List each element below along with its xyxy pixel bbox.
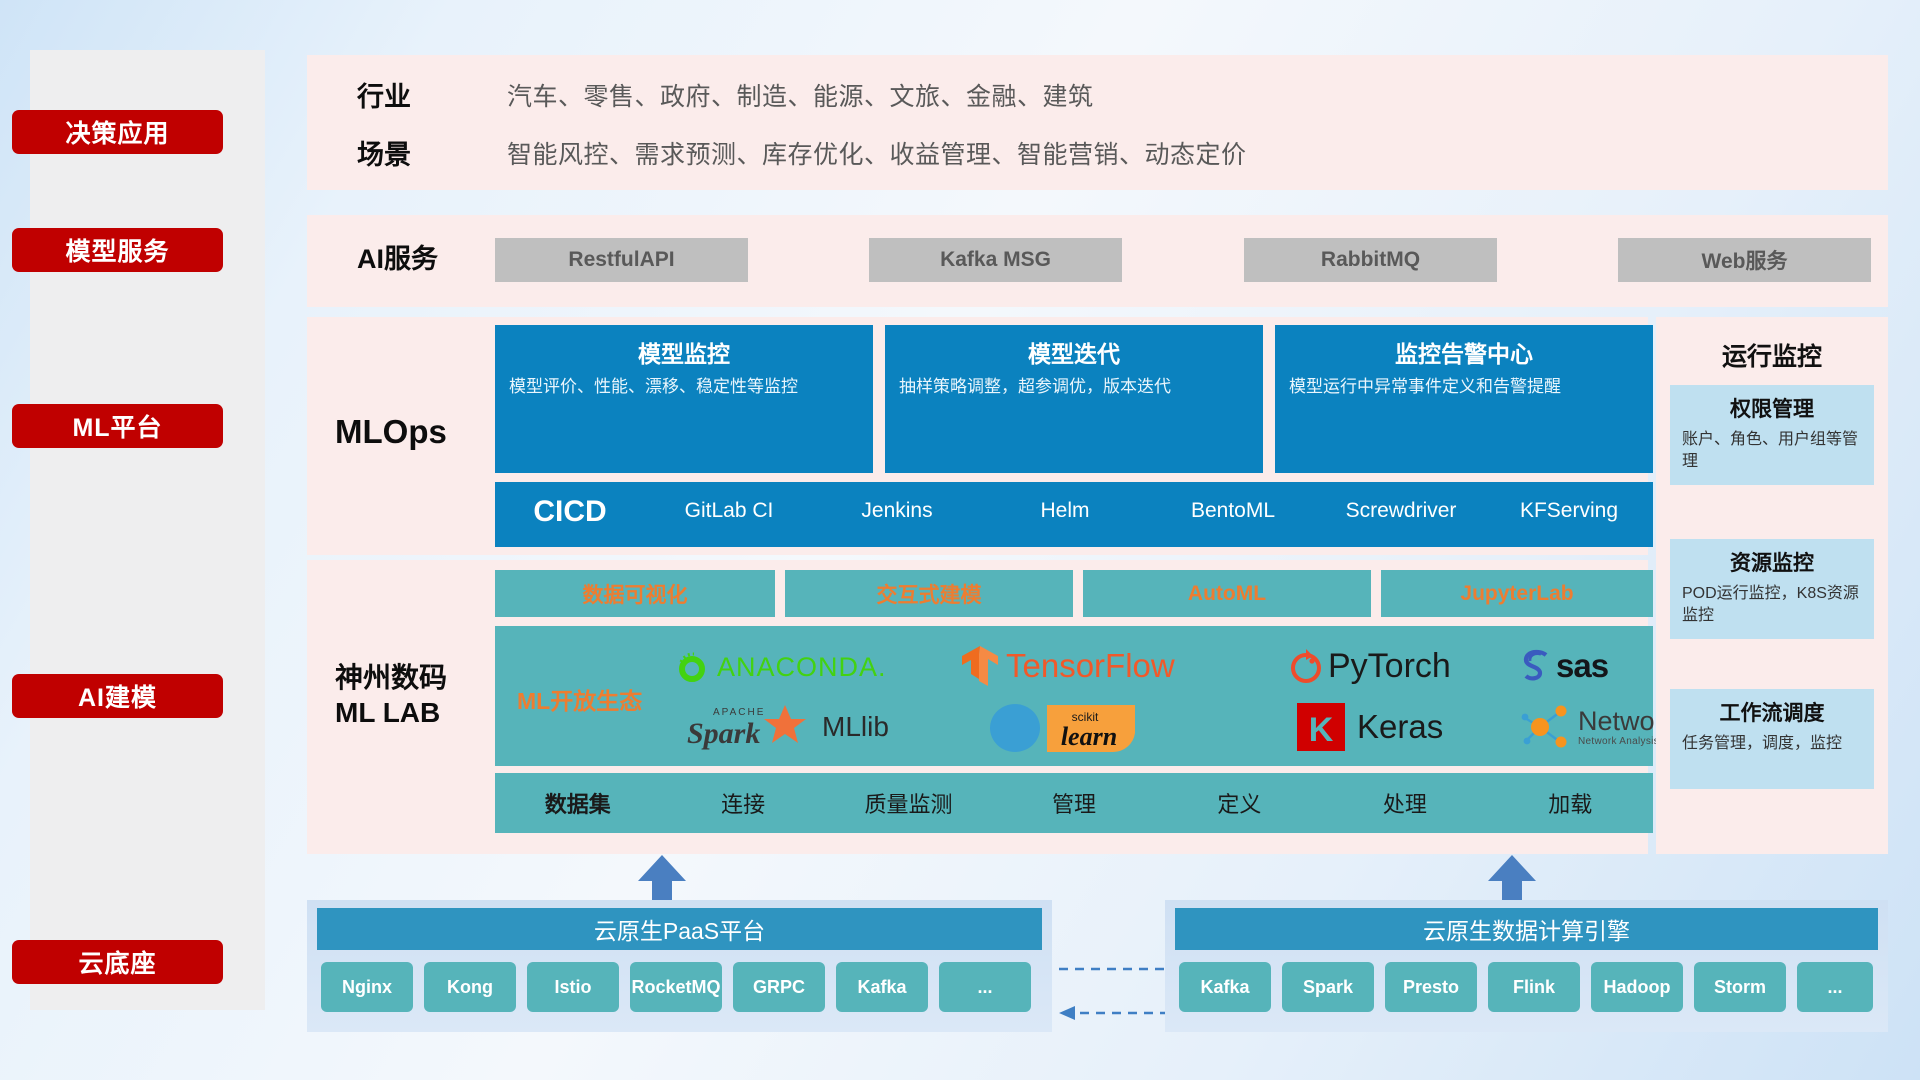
dataset-item-load[interactable]: 加载: [1488, 787, 1653, 819]
industry-key: 行业: [357, 75, 411, 114]
paas-block: 云原生PaaS平台 Nginx Kong Istio RocketMQ GRPC…: [307, 900, 1052, 1032]
mlops-label: MLOps: [335, 413, 447, 451]
cicd-item-jenkins[interactable]: Jenkins: [813, 482, 981, 524]
svg-text:K: K: [1309, 711, 1334, 749]
paas-chip-istio[interactable]: Istio: [527, 962, 619, 1012]
engine-chip-storm[interactable]: Storm: [1694, 962, 1786, 1012]
tab-automl[interactable]: AutoML: [1083, 570, 1371, 617]
card-desc: 账户、角色、用户组等管理: [1682, 429, 1862, 474]
engine-chip-hadoop[interactable]: Hadoop: [1591, 962, 1683, 1012]
dataset-item-connect[interactable]: 连接: [660, 787, 825, 819]
monitor-card-permission[interactable]: 权限管理 账户、角色、用户组等管理: [1670, 385, 1874, 485]
paas-chip-kafka[interactable]: Kafka: [836, 962, 928, 1012]
mlops-card-model-monitoring[interactable]: 模型监控 模型评价、性能、漂移、稳定性等监控: [495, 325, 873, 473]
card-desc: 抽样策略调整，超参调优，版本迭代: [899, 376, 1249, 399]
paas-chip-kong[interactable]: Kong: [424, 962, 516, 1012]
paas-chip-rocketmq[interactable]: RocketMQ: [630, 962, 722, 1012]
arrow-up-paas-icon: [630, 855, 700, 905]
cicd-item-helm[interactable]: Helm: [981, 482, 1149, 524]
logo-tensorflow: TensorFlow: [960, 636, 1260, 696]
dataset-item-quality[interactable]: 质量监测: [826, 787, 991, 819]
card-title: 工作流调度: [1682, 697, 1862, 727]
layer-chip-model-service[interactable]: 模型服务: [12, 228, 223, 272]
card-title: 权限管理: [1682, 393, 1862, 423]
tab-jupyterlab[interactable]: JupyterLab: [1381, 570, 1653, 617]
card-desc: 模型运行中异常事件定义和告警提醒: [1289, 376, 1639, 399]
paas-chip-grpc[interactable]: GRPC: [733, 962, 825, 1012]
card-title: 监控告警中心: [1289, 335, 1639, 369]
ai-service-web[interactable]: Web服务: [1618, 238, 1871, 282]
anaconda-icon: [675, 650, 709, 684]
mlops-panel: MLOps 模型监控 模型评价、性能、漂移、稳定性等监控 模型迭代 抽样策略调整…: [307, 317, 1648, 555]
layer-chip-ml-platform[interactable]: ML平台: [12, 404, 223, 448]
ai-service-kafka-msg[interactable]: Kafka MSG: [869, 238, 1122, 282]
cicd-bar: CICD GitLab CI Jenkins Helm BentoML Scre…: [495, 482, 1653, 547]
engine-chip-presto[interactable]: Presto: [1385, 962, 1477, 1012]
paas-chip-more[interactable]: ...: [939, 962, 1031, 1012]
mllib-wordmark: MLlib: [822, 711, 889, 743]
dataset-item-manage[interactable]: 管理: [991, 787, 1156, 819]
dataset-strip: 数据集 连接 质量监测 管理 定义 处理 加载: [495, 773, 1653, 833]
data-engine-block: 云原生数据计算引擎 Kafka Spark Presto Flink Hadoo…: [1165, 900, 1888, 1032]
card-desc: 模型评价、性能、漂移、稳定性等监控: [509, 376, 859, 399]
logo-spark-mllib: APACHE Spark MLlib: [685, 698, 975, 756]
ml-ecosystem-strip: ML开放生态 ANACONDA. TensorFlow: [495, 626, 1653, 766]
dataset-label: 数据集: [495, 787, 660, 819]
layer-chip-ai-modeling[interactable]: AI建模: [12, 674, 223, 718]
mlops-card-alert-center[interactable]: 监控告警中心 模型运行中异常事件定义和告警提醒: [1275, 325, 1653, 473]
dataset-item-process[interactable]: 处理: [1322, 787, 1487, 819]
sas-wordmark: sas: [1556, 647, 1608, 685]
scenario-key: 场景: [357, 133, 411, 172]
cicd-item-gitlab-ci[interactable]: GitLab CI: [645, 482, 813, 524]
dataset-item-define[interactable]: 定义: [1157, 787, 1322, 819]
networkx-icon: [1520, 702, 1572, 752]
logo-scikit-learn: scikit learn: [985, 698, 1235, 756]
industry-value: 汽车、零售、政府、制造、能源、文旅、金融、建筑: [507, 77, 1094, 113]
ml-ecosystem-label: ML开放生态: [517, 682, 642, 716]
decision-panel: 行业 汽车、零售、政府、制造、能源、文旅、金融、建筑 场景 智能风控、需求预测、…: [307, 55, 1888, 190]
tab-interactive-modeling[interactable]: 交互式建模: [785, 570, 1073, 617]
card-desc: 任务管理，调度，监控: [1682, 733, 1862, 755]
tensorflow-icon: [960, 644, 1000, 688]
ai-modeling-panel: 神州数码 ML LAB 数据可视化 交互式建模 AutoML JupyterLa…: [307, 560, 1648, 854]
logo-keras: K Keras: [1295, 698, 1545, 756]
keras-wordmark: Keras: [1357, 708, 1443, 746]
logo-pytorch: PyTorch: [1290, 636, 1540, 696]
spark-icon: APACHE Spark: [685, 701, 815, 753]
engine-chip-flink[interactable]: Flink: [1488, 962, 1580, 1012]
card-desc: POD运行监控，K8S资源监控: [1682, 583, 1862, 628]
logo-anaconda: ANACONDA.: [675, 638, 950, 696]
monitor-card-resource[interactable]: 资源监控 POD运行监控，K8S资源监控: [1670, 539, 1874, 639]
tab-data-visualization[interactable]: 数据可视化: [495, 570, 775, 617]
paas-chip-nginx[interactable]: Nginx: [321, 962, 413, 1012]
scenario-value: 智能风控、需求预测、库存优化、收益管理、智能营销、动态定价: [507, 135, 1247, 171]
cicd-item-screwdriver[interactable]: Screwdriver: [1317, 482, 1485, 524]
paas-title: 云原生PaaS平台: [317, 908, 1042, 950]
svg-text:learn: learn: [1061, 722, 1117, 751]
card-title: 资源监控: [1682, 547, 1862, 577]
runtime-monitor-title: 运行监控: [1656, 337, 1888, 373]
mlops-card-model-iteration[interactable]: 模型迭代 抽样策略调整，超参调优，版本迭代: [885, 325, 1263, 473]
pytorch-icon: [1290, 647, 1322, 685]
layer-rail: [30, 50, 265, 1010]
ml-lab-label: 神州数码 ML LAB: [335, 660, 447, 730]
keras-icon: K: [1295, 701, 1347, 753]
layer-chip-cloud-base[interactable]: 云底座: [12, 940, 223, 984]
ai-service-rabbitmq[interactable]: RabbitMQ: [1244, 238, 1497, 282]
monitor-card-workflow[interactable]: 工作流调度 任务管理，调度，监控: [1670, 689, 1874, 789]
data-engine-title: 云原生数据计算引擎: [1175, 908, 1878, 950]
svg-text:Spark: Spark: [687, 717, 760, 750]
anaconda-wordmark: ANACONDA.: [717, 652, 887, 683]
scikit-learn-icon: scikit learn: [985, 699, 1160, 755]
ml-lab-label-line1: 神州数码: [335, 660, 447, 695]
cicd-item-kfserving[interactable]: KFServing: [1485, 482, 1653, 524]
card-title: 模型监控: [509, 335, 859, 369]
sas-icon: [1520, 648, 1554, 684]
runtime-monitor-panel: 运行监控 权限管理 账户、角色、用户组等管理 资源监控 POD运行监控，K8S资…: [1656, 317, 1888, 854]
layer-chip-decision[interactable]: 决策应用: [12, 110, 223, 154]
engine-chip-more[interactable]: ...: [1797, 962, 1873, 1012]
card-title: 模型迭代: [899, 335, 1249, 369]
logo-sas: sas: [1520, 640, 1670, 692]
pytorch-wordmark: PyTorch: [1328, 647, 1451, 686]
ai-service-restfulapi[interactable]: RestfulAPI: [495, 238, 748, 282]
diagram-canvas: 决策应用 模型服务 ML平台 AI建模 云底座 行业 汽车、零售、政府、制造、能…: [0, 0, 1920, 1080]
tensorflow-wordmark: TensorFlow: [1006, 647, 1175, 685]
engine-chip-kafka[interactable]: Kafka: [1179, 962, 1271, 1012]
arrow-up-data-engine-icon: [1480, 855, 1550, 905]
ml-lab-label-line2: ML LAB: [335, 695, 447, 730]
cicd-item-bentoml[interactable]: BentoML: [1149, 482, 1317, 524]
cicd-title: CICD: [495, 482, 645, 529]
engine-chip-spark[interactable]: Spark: [1282, 962, 1374, 1012]
ai-service-panel: AI服务 RestfulAPI Kafka MSG RabbitMQ Web服务: [307, 215, 1888, 307]
ai-service-label: AI服务: [357, 237, 438, 276]
